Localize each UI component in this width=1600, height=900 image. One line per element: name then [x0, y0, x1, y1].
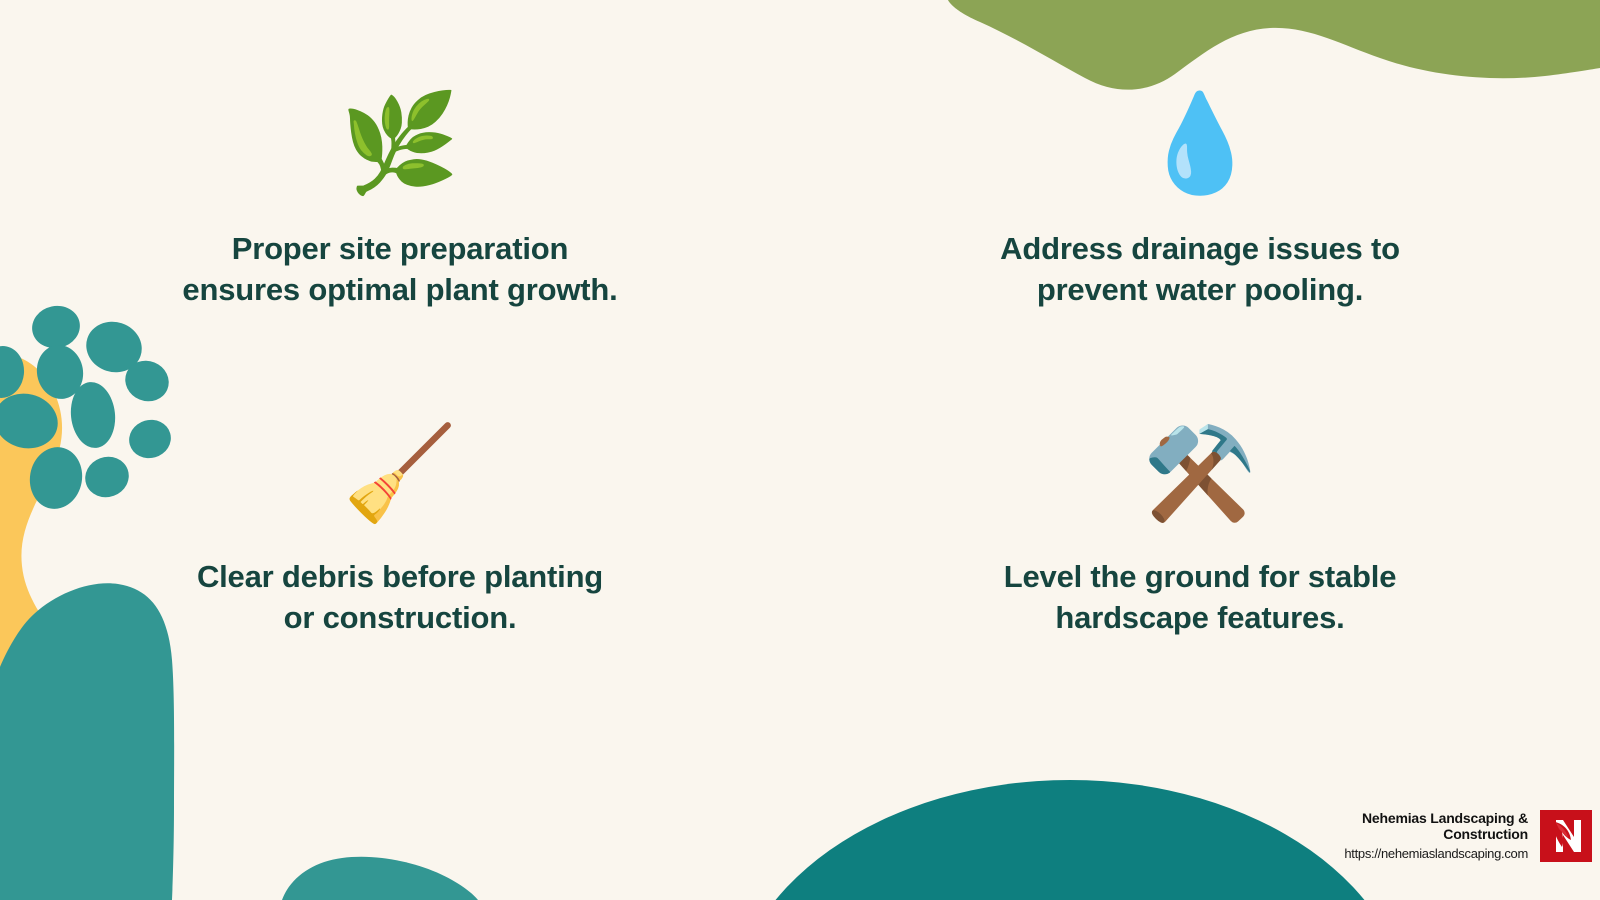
company-logo-icon[interactable]: [1540, 810, 1592, 862]
tip-card-2: 💧 Address drainage issues to prevent wat…: [800, 0, 1600, 370]
tip-text-3: Clear debris before planting or construc…: [197, 556, 603, 638]
tip-card-1: 🌿 Proper site preparation ensures optima…: [0, 0, 800, 370]
brand-text-block: Nehemias Landscaping & Construction http…: [1344, 810, 1528, 861]
infographic-canvas: 🌿 Proper site preparation ensures optima…: [0, 0, 1600, 900]
crossed-hammers-icon: ⚒️: [1143, 418, 1258, 530]
company-website[interactable]: https://nehemiaslandscaping.com: [1344, 847, 1528, 861]
tip-text-2: Address drainage issues to prevent water…: [1000, 228, 1400, 310]
tips-grid: 🌿 Proper site preparation ensures optima…: [0, 0, 1600, 900]
tip-card-3: 🧹 Clear debris before planting or constr…: [0, 370, 800, 770]
broom-icon: 🧹: [343, 418, 458, 530]
tip-text-1: Proper site preparation ensures optimal …: [182, 228, 617, 310]
company-name: Nehemias Landscaping & Construction: [1362, 810, 1528, 842]
tip-text-4: Level the ground for stable hardscape fe…: [1004, 556, 1396, 638]
brand-footer: Nehemias Landscaping & Construction http…: [1344, 810, 1592, 862]
water-droplet-icon: 💧: [1140, 88, 1260, 200]
tip-card-4: ⚒️ Level the ground for stable hardscape…: [800, 370, 1600, 770]
herb-leaf-icon: 🌿: [340, 88, 460, 200]
